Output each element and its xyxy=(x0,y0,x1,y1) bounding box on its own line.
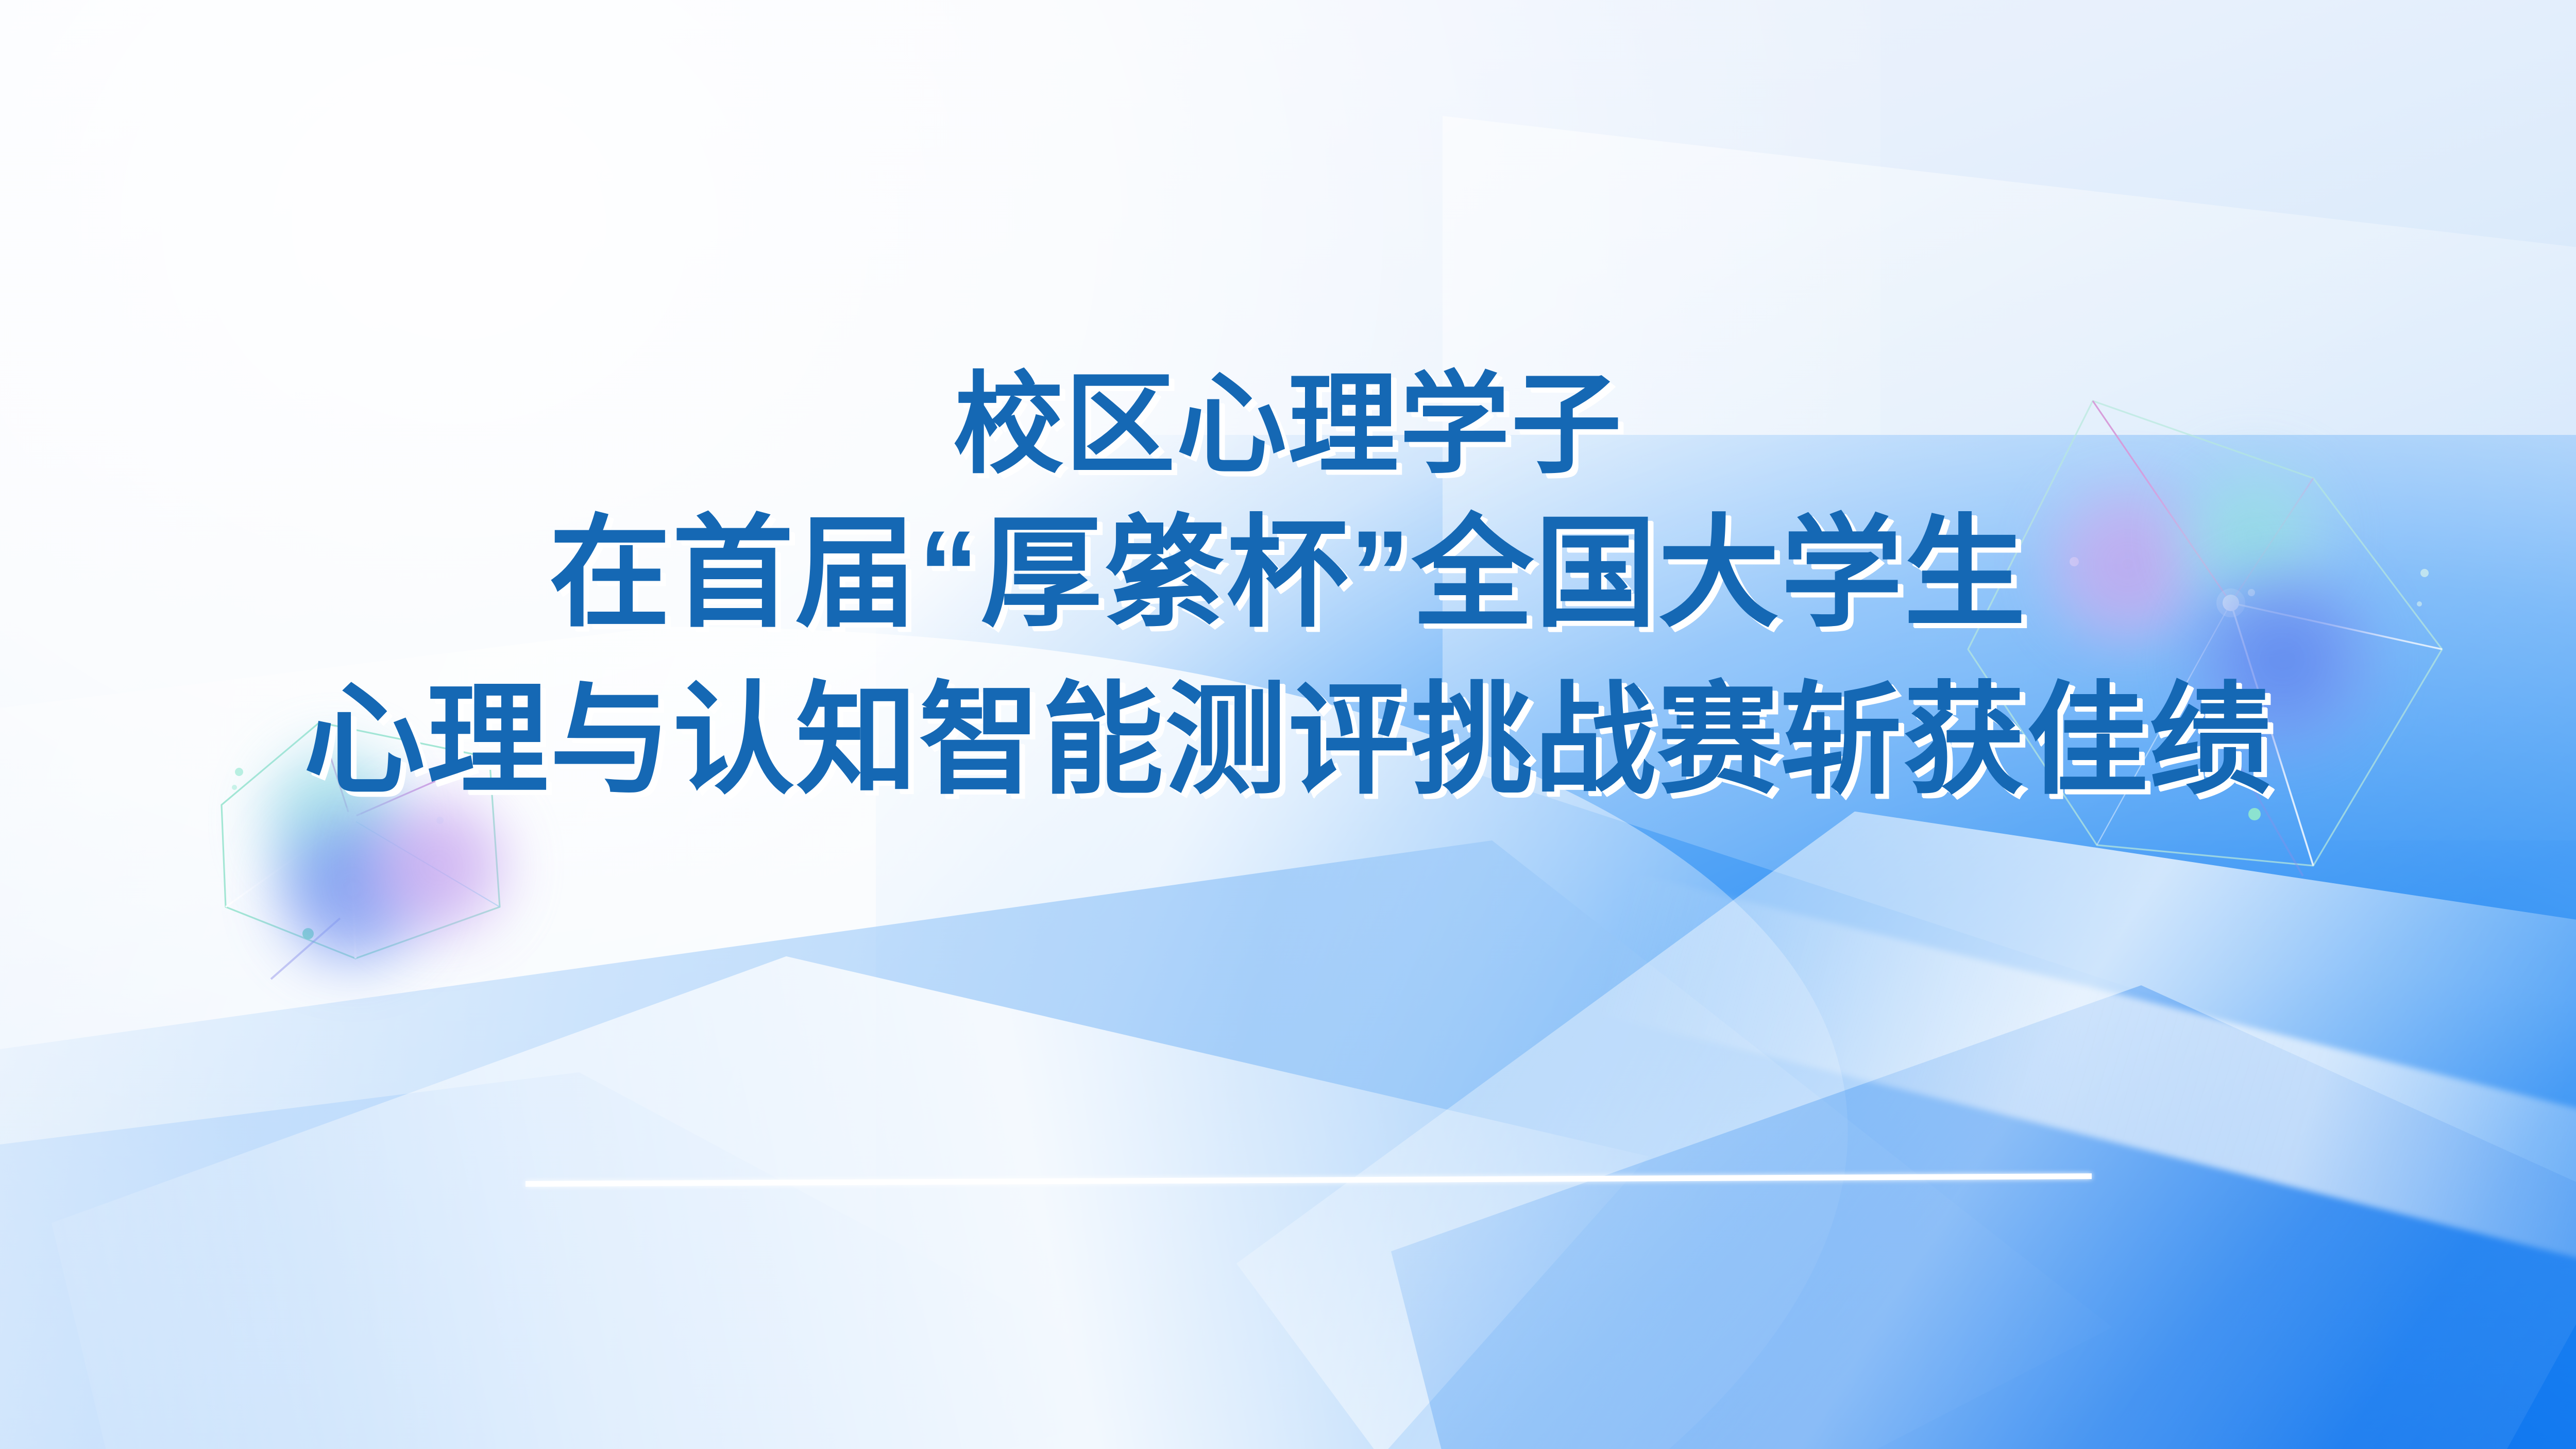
headline-line-3: 心理与认知智能测评挑战赛斩获佳绩 xyxy=(0,658,2576,823)
banner-poster: 校区心理学子 在首届“厚綮杯”全国大学生 心理与认知智能测评挑战赛斩获佳绩 xyxy=(0,0,2576,1449)
background-deep-blue-core xyxy=(1443,840,2576,1449)
headline-line-2: 在首届“厚綮杯”全国大学生 xyxy=(0,490,2576,658)
headline-line-1: 校区心理学子 xyxy=(0,361,2576,490)
headline-block: 校区心理学子 在首届“厚綮杯”全国大学生 心理与认知智能测评挑战赛斩获佳绩 xyxy=(0,361,2576,823)
